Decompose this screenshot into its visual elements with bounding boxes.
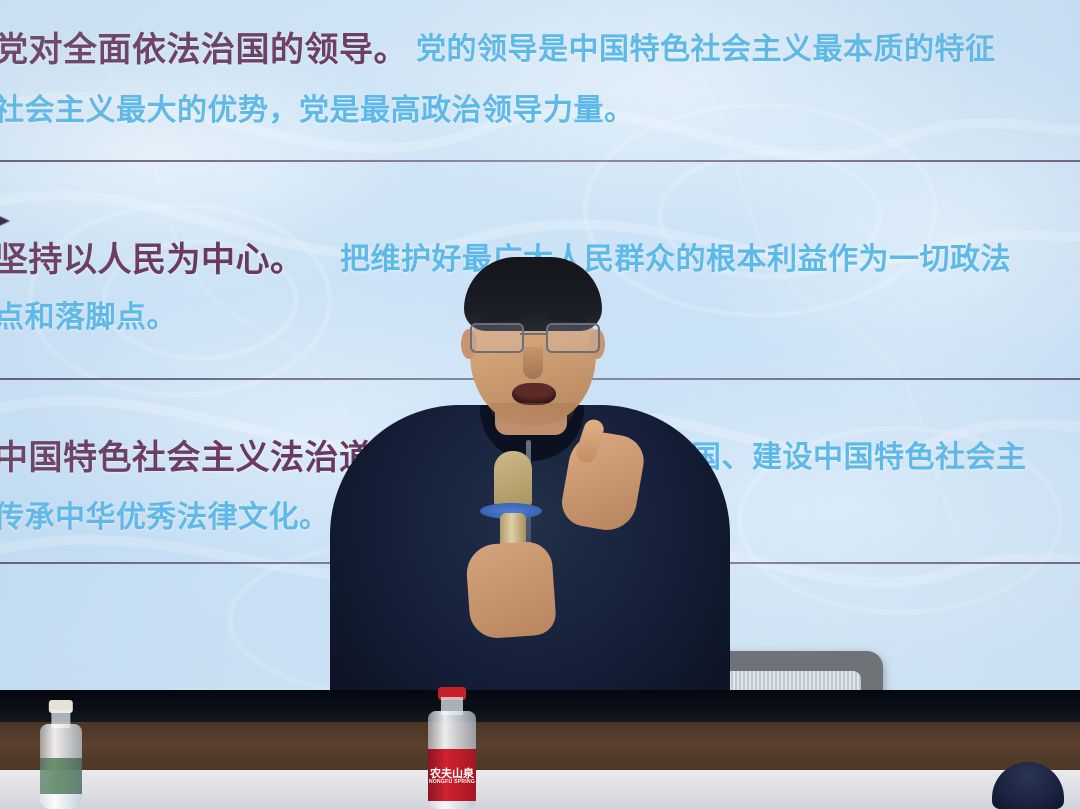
glasses-bridge xyxy=(520,333,548,335)
bottle-label-left xyxy=(40,758,82,794)
glasses-lens-right xyxy=(546,323,600,353)
slide-heading-1: 党对全面依法治国的领导。 xyxy=(0,22,408,71)
speaker-figure xyxy=(330,255,730,735)
speaker-chin xyxy=(490,403,576,429)
glasses-icon xyxy=(468,323,600,349)
table-surface xyxy=(0,770,1080,809)
slide-body-3-line-2: 传承中华优秀法律文化。 xyxy=(0,492,330,536)
speaker-nose xyxy=(523,347,543,379)
water-bottle-left xyxy=(40,700,82,809)
photo-scene: 党对全面依法治国的领导。 党的领导是中国特色社会主义最本质的特征 社会主义最大的… xyxy=(0,0,1080,809)
speaker-hand-holding-microphone xyxy=(465,540,557,640)
slide-body-2-line-2: 点和落脚点。 xyxy=(0,292,177,336)
microphone-head xyxy=(494,451,532,509)
speaker-mouth xyxy=(512,383,556,405)
slide-divider-1 xyxy=(0,160,1080,162)
背景-shadow-band xyxy=(0,690,1080,724)
bottle-brand-subtext: NONGFU SPRING xyxy=(428,779,476,785)
slide-heading-2: 坚持以人民为中心。 xyxy=(0,232,305,281)
bottle-label-right: 农夫山泉 NONGFU SPRING xyxy=(428,749,476,801)
slide-bullet-marker-icon xyxy=(0,210,10,232)
water-bottle-right: 农夫山泉 NONGFU SPRING xyxy=(428,687,476,809)
wood-panel xyxy=(0,722,1080,772)
glasses-lens-left xyxy=(470,323,524,353)
slide-body-1-line-2: 社会主义最大的优势，党是最高政治领导力量。 xyxy=(0,85,635,129)
slide-body-1-line-1: 党的领导是中国特色社会主义最本质的特征 xyxy=(416,24,996,68)
